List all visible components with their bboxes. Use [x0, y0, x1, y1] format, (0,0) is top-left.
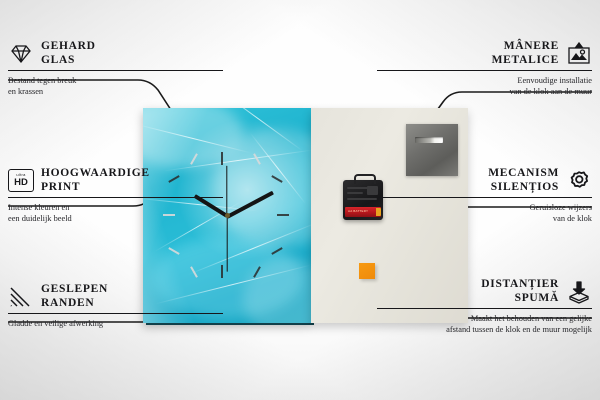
callout-title-line2: RANDEN — [41, 297, 108, 311]
callout-header: GESLEPEN RANDEN — [8, 283, 223, 310]
callout-title-line1: HOOGWAARDIGE — [41, 167, 150, 181]
callout-desc-line2: en krassen — [8, 86, 223, 97]
callout-title-line2: GLAS — [41, 54, 96, 68]
callout-title-line1: DISTANȚIER — [481, 278, 559, 292]
battery-label: AA BATTERY — [348, 209, 368, 213]
callout-title-line1: MECANISM — [488, 167, 559, 181]
callout-divider — [8, 70, 223, 71]
infographic-canvas: AA BATTERY GEHARD GLAS Bestand tegen bre… — [0, 0, 600, 400]
callout-desc-line2: van de klok aan de muur — [377, 86, 592, 97]
callout-gehard-glas: GEHARD GLAS Bestand tegen breuk en krass… — [8, 40, 223, 97]
callout-desc-line1: Gladde en veilige afwerking — [8, 318, 223, 329]
callout-header: MECANISM SILENȚIOS — [377, 167, 592, 194]
callout-geslepen-randen: GESLEPEN RANDEN Gladde en veilige afwerk… — [8, 283, 223, 329]
callout-divider — [8, 313, 223, 314]
callout-hoogwaardige-print: ultra HD HOOGWAARDIGE PRINT Intense kleu… — [8, 167, 223, 224]
callout-divider — [377, 197, 592, 198]
callout-title-line1: MÂNERE — [492, 40, 559, 54]
callout-header: GEHARD GLAS — [8, 40, 223, 67]
callout-desc-line1: Maakt het behouden van een gelijke — [377, 313, 592, 324]
ultra-hd-icon-large-text: HD — [14, 178, 28, 188]
callout-desc-line2: afstand tussen de klok en de muur mogeli… — [377, 324, 592, 335]
foam-spacer-arrow-icon — [566, 280, 592, 304]
callout-divider — [377, 70, 592, 71]
callout-desc-line1: Bestand tegen breuk — [8, 75, 223, 86]
ultra-hd-icon: ultra HD — [8, 169, 34, 193]
callout-title-line2: METALICE — [492, 54, 559, 68]
callout-header: DISTANȚIER SPUMĂ — [377, 278, 592, 305]
clock-battery: AA BATTERY — [345, 207, 381, 217]
callout-desc-line1: Geruisloze wijzers — [377, 202, 592, 213]
callout-title-line2: SPUMĂ — [481, 292, 559, 306]
wall-hanging-picture-icon — [566, 42, 592, 66]
gear-icon — [566, 169, 592, 193]
callout-desc-line2: van de klok — [377, 213, 592, 224]
mechanism-hanger-tab — [354, 174, 376, 184]
callout-title-line2: PRINT — [41, 181, 150, 195]
callout-distantier-spuma: DISTANȚIER SPUMĂ Maakt het behouden van … — [377, 278, 592, 335]
callout-desc-line2: een duidelijk beeld — [8, 213, 223, 224]
beveled-edge-lines-icon — [8, 285, 34, 309]
callout-title-line1: GESLEPEN — [41, 283, 108, 297]
callout-divider — [8, 197, 223, 198]
foam-spacer — [359, 263, 375, 279]
callout-desc-line1: Intense kleuren en — [8, 202, 223, 213]
diamond-icon — [8, 42, 34, 66]
clock-center-hub — [225, 213, 230, 218]
callout-header: ultra HD HOOGWAARDIGE PRINT — [8, 167, 223, 194]
hanger-keyhole-slot — [415, 137, 443, 143]
clock-second-hand — [226, 216, 227, 272]
callout-desc-line1: Eenvoudige installatie — [377, 75, 592, 86]
callout-header: MÂNERE METALICE — [377, 40, 592, 67]
callout-divider — [377, 308, 592, 309]
callout-title-line1: GEHARD — [41, 40, 96, 54]
callout-manere-metalice: MÂNERE METALICE Eenvoudige installatie v… — [377, 40, 592, 97]
callout-title-line2: SILENȚIOS — [488, 181, 559, 195]
callout-mecanism-silentios: MECANISM SILENȚIOS Geruisloze wijzers va… — [377, 167, 592, 224]
